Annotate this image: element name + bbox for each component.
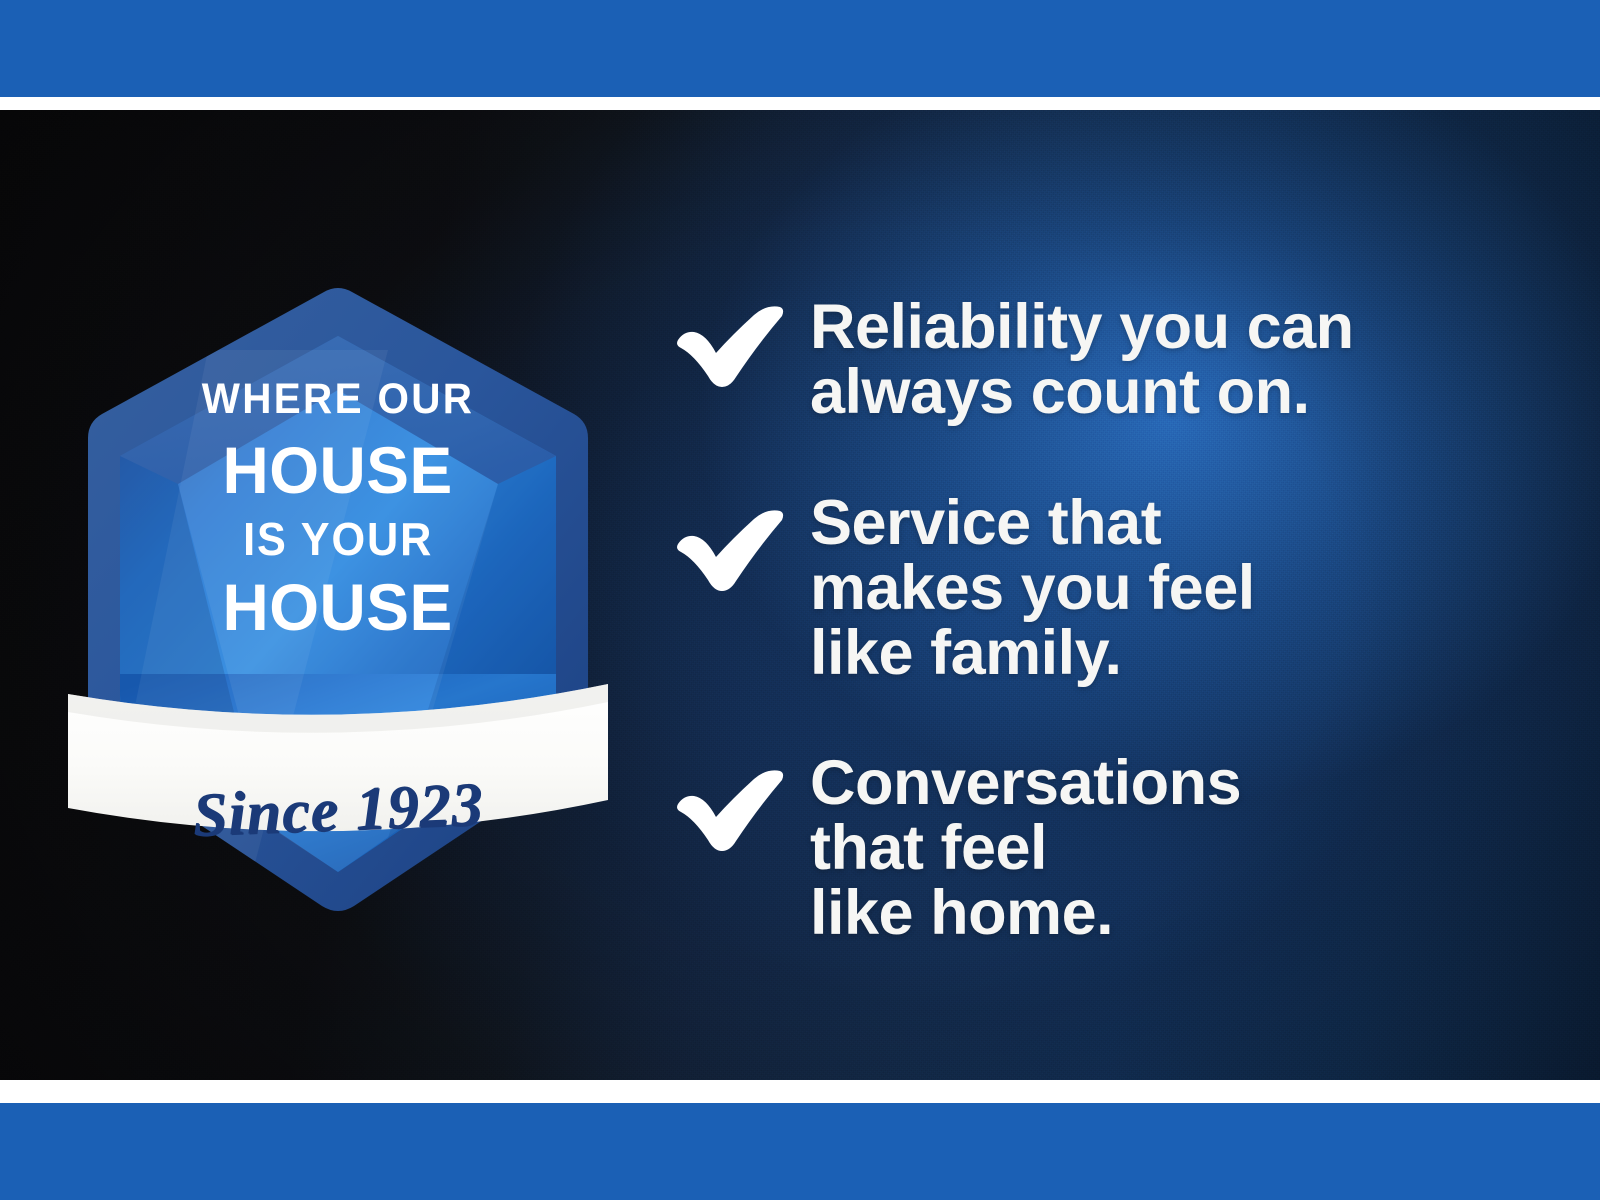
list-item-line: makes you feel <box>810 556 1255 621</box>
list-item-text: Conversations that feel like home. <box>810 751 1241 946</box>
list-item-line: always count on. <box>810 360 1354 425</box>
check-icon <box>672 295 810 395</box>
list-item-line: Conversations <box>810 751 1241 816</box>
list-item: Conversations that feel like home. <box>672 751 1552 946</box>
list-item-line: like family. <box>810 621 1255 686</box>
value-proposition-list: Reliability you can always count on. Ser… <box>672 295 1552 946</box>
promo-poster: WHERE OUR HOUSE IS YOUR HOUSE Since 1923… <box>0 0 1600 1200</box>
list-item-line: like home. <box>810 881 1241 946</box>
shield-badge: WHERE OUR HOUSE IS YOUR HOUSE Since 1923 <box>58 270 618 920</box>
bottom-accent-bar <box>0 1103 1600 1200</box>
list-item-line: Service that <box>810 491 1255 556</box>
content-stage: WHERE OUR HOUSE IS YOUR HOUSE Since 1923… <box>0 110 1600 1080</box>
top-accent-bar <box>0 0 1600 97</box>
check-icon <box>672 491 810 599</box>
list-item-line: Reliability you can <box>810 295 1354 360</box>
list-item: Reliability you can always count on. <box>672 295 1552 425</box>
list-item-text: Service that makes you feel like family. <box>810 491 1255 686</box>
list-item-line: that feel <box>810 816 1241 881</box>
check-icon <box>672 751 810 859</box>
list-item: Service that makes you feel like family. <box>672 491 1552 686</box>
list-item-text: Reliability you can always count on. <box>810 295 1354 425</box>
